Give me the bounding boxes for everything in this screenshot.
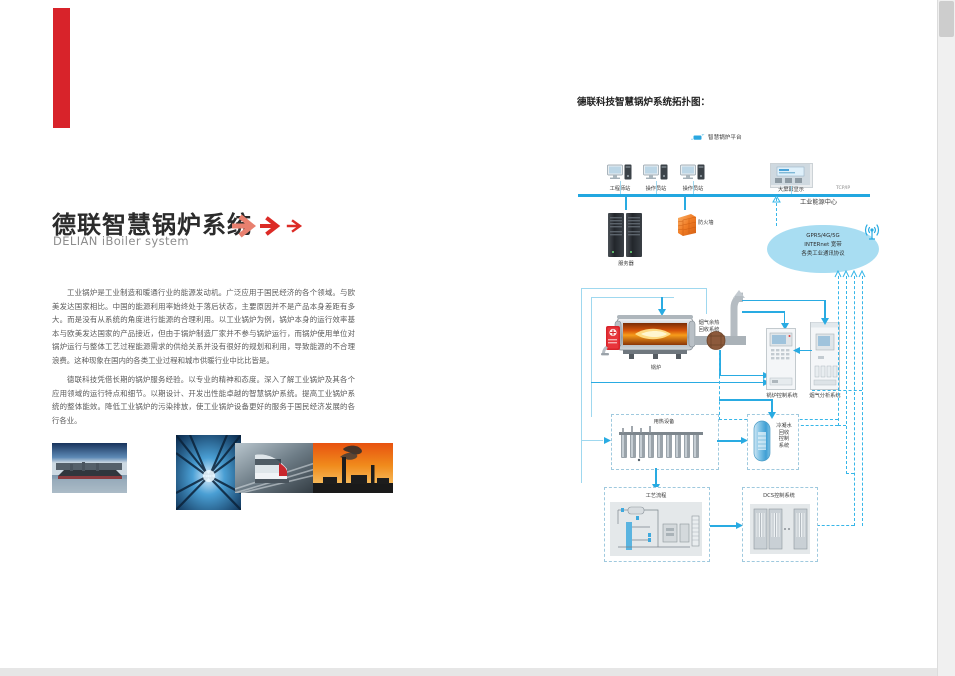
document-viewport: 德联智慧锅炉系统 DELIAN iBoiler system 工业锅炉是工业制造… xyxy=(0,0,955,676)
photo-strip xyxy=(52,443,358,528)
red-accent-bar xyxy=(53,8,70,128)
intro-paragraph-1: 工业锅炉是工业制造和暖通行业的能源发动机。广泛应用于国民经济的各个领域。与欧美发… xyxy=(52,286,355,368)
analysis-uplink xyxy=(824,300,826,320)
heat-equipment-label: 用热设备 xyxy=(640,418,688,425)
glass-building-photo xyxy=(176,435,241,510)
riser-dashed-2 xyxy=(846,276,847,474)
stack-to-control-h xyxy=(742,311,785,313)
riser-dashed-3 xyxy=(854,276,855,526)
loop-outer-right xyxy=(706,288,707,314)
workstation-operator-2-icon xyxy=(680,164,706,181)
condensate-uplink-arrow-icon xyxy=(768,412,776,419)
arrow-decoration-icon xyxy=(232,212,312,240)
intro-paragraph-2: 德联科技凭借长期的锅炉服务经验。以专业的精神和态度。深入了解工业锅炉及其各个应用… xyxy=(52,373,355,427)
workstation-engineer-icon xyxy=(607,164,633,181)
riser-arrows-icon xyxy=(834,270,868,278)
firewall-uplink xyxy=(684,197,686,210)
loop-inner-left xyxy=(591,297,592,417)
page-title-en: DELIAN iBoiler system xyxy=(53,234,189,248)
boiler-return-line xyxy=(591,382,766,384)
uplink-arrow-icon xyxy=(772,196,781,204)
boiler-label: 锅炉 xyxy=(639,364,673,371)
firewall-label: 防火墙 xyxy=(698,219,728,226)
dcs-dashed-out xyxy=(812,525,854,526)
tcpip-label: TCP/IP xyxy=(836,186,850,191)
condensate-dashed-out xyxy=(796,425,838,426)
analysis-dashed-out xyxy=(812,390,862,391)
dcs-cabinets-icon xyxy=(750,504,810,554)
analysis-to-control-line xyxy=(798,350,812,352)
heat-equip-in-arrow-icon xyxy=(603,437,611,444)
scrollbar-thumb[interactable] xyxy=(939,1,954,37)
condensate-tank-icon xyxy=(752,419,772,463)
industrial-smokestacks-photo xyxy=(313,443,393,493)
loop-outer-left xyxy=(581,288,582,483)
analysis-uplink-arrow-icon xyxy=(821,318,829,325)
flue-analysis-label: 烟气分析系统 xyxy=(798,392,852,399)
vertical-scrollbar[interactable] xyxy=(937,0,955,676)
condensate-label-l1: 冷凝水 xyxy=(772,423,796,430)
document-page: 德联智慧锅炉系统 DELIAN iBoiler system 工业锅炉是工业制造… xyxy=(0,0,938,668)
condensate-label-l3: 控制 xyxy=(772,436,796,443)
riser-dashed-1 xyxy=(838,276,839,426)
loop-outer-top xyxy=(581,288,707,289)
cloud-line-3: 各类工业通讯协议 xyxy=(767,250,879,258)
energy-center-label: 工业能源中心 xyxy=(800,197,837,206)
burner-icon xyxy=(601,326,623,356)
analysis-to-control-arrow-icon xyxy=(793,347,800,354)
heat-to-condensate-line xyxy=(717,440,743,442)
cloud-line-2: INTERnet 宽带 xyxy=(767,241,879,249)
server-icon xyxy=(607,211,645,259)
riser-join-2 xyxy=(846,473,854,474)
condensate-uplink-h xyxy=(719,399,773,401)
diagram-title: 德联科技智慧锅炉系统拓扑图： xyxy=(577,94,710,108)
server-label: 服务器 xyxy=(604,260,648,267)
recovery-dashed-down xyxy=(719,350,720,420)
dcs-label: DCS控制系统 xyxy=(752,492,806,499)
wireless-antenna-icon xyxy=(862,221,882,241)
boiler-icon xyxy=(613,314,697,360)
flue-recovery-label-l2: 回收系统 xyxy=(689,327,729,334)
flue-recovery-label: 烟气余热 回收系统 xyxy=(689,320,729,333)
heat-equip-in-line xyxy=(581,440,603,441)
process-flow-diagram-icon xyxy=(610,502,702,556)
condensate-label: 冷凝水 回收 控制 系统 xyxy=(772,423,796,449)
platform-icon xyxy=(690,133,706,141)
server-uplink xyxy=(625,197,627,210)
analysis-uplink-h xyxy=(742,300,826,302)
riser-join-1 xyxy=(838,425,846,426)
high-speed-train-photo xyxy=(235,443,315,493)
flue-analysis-cabinet-icon xyxy=(810,322,840,390)
boiler-control-cabinet-icon xyxy=(766,328,796,390)
platform-label: 智慧锅炉平台 xyxy=(708,133,742,141)
heat-equipment-icon xyxy=(617,426,711,464)
ship-port-photo xyxy=(52,443,127,493)
flue-recovery-label-l1: 烟气余热 xyxy=(689,320,729,327)
recovery-right xyxy=(719,375,765,377)
firewall-icon xyxy=(676,213,698,237)
workstation-operator-1-icon xyxy=(643,164,669,181)
process-flow-label: 工艺流程 xyxy=(630,492,682,499)
riser-dashed-4 xyxy=(862,276,863,526)
process-to-dcs-line xyxy=(710,525,738,527)
condensate-label-l4: 系统 xyxy=(772,443,796,450)
big-screen-display-icon xyxy=(770,163,813,188)
